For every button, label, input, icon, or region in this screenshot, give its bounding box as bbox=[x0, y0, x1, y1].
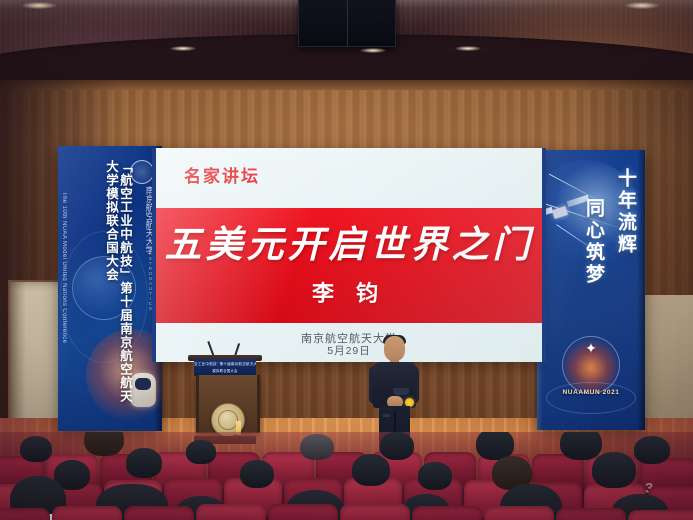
audience-head bbox=[300, 434, 334, 460]
podium-banner-line-2: 模拟联合国大会 bbox=[212, 368, 237, 373]
audience-head bbox=[240, 460, 274, 488]
seat[interactable] bbox=[628, 510, 693, 520]
podium-body bbox=[196, 375, 260, 433]
seat[interactable] bbox=[412, 506, 482, 520]
banner-left: 「航空工业中航技」第十届南京航空航天大学模拟联合国大会 南京航空航天大学 NAN… bbox=[58, 146, 162, 431]
auditorium-scene: 「航空工业中航技」第十届南京航空航天大学模拟联合国大会 南京航空航天大学 NAN… bbox=[0, 0, 693, 520]
ceiling bbox=[0, 0, 693, 86]
podium: "航空工业中航技" 第十届南京航空航天大学 模拟联合国大会 bbox=[192, 355, 258, 440]
banner-edge-shadow bbox=[637, 150, 645, 430]
banner-right-calligraphy-2: 同心筑梦 bbox=[584, 198, 603, 303]
audience-head bbox=[84, 432, 124, 456]
speaker-pocket bbox=[383, 414, 390, 417]
audience-head bbox=[380, 432, 414, 460]
ceiling-projector-unit bbox=[298, 0, 396, 47]
banner-right: 十年流辉 同心筑梦 ✦ NUAAMUN 2021 bbox=[537, 150, 645, 430]
downlight bbox=[625, 2, 659, 9]
seat[interactable] bbox=[52, 506, 122, 520]
astronaut-graphic bbox=[130, 373, 156, 407]
speaker-collar bbox=[393, 388, 409, 395]
nuaamun-logo-ring bbox=[546, 382, 636, 414]
seat[interactable] bbox=[268, 504, 338, 520]
downlight bbox=[170, 46, 196, 51]
audience-head bbox=[20, 436, 52, 462]
university-emblem-icon bbox=[130, 160, 154, 184]
seat[interactable] bbox=[196, 504, 266, 520]
airplane-star-icon: ✦ bbox=[585, 341, 597, 355]
downlight bbox=[455, 46, 481, 51]
seat[interactable] bbox=[484, 506, 554, 520]
seat[interactable] bbox=[0, 508, 50, 520]
banner-right-calligraphy-1: 十年流辉 bbox=[616, 168, 635, 303]
door-shadow bbox=[10, 282, 26, 440]
downlight bbox=[360, 48, 386, 53]
seat[interactable] bbox=[556, 508, 626, 520]
audience-area: 3 bbox=[0, 432, 693, 520]
audience-head bbox=[592, 452, 636, 488]
seat[interactable] bbox=[124, 506, 194, 520]
banner-left-english: The 10th NUAA Model United Nations Confe… bbox=[61, 192, 67, 343]
audience-head bbox=[126, 448, 162, 478]
screen-glare bbox=[156, 148, 542, 362]
audience-head bbox=[186, 440, 216, 464]
podium-banner-line-1: "航空工业中航技" 第十届南京航空航天大学 bbox=[194, 362, 256, 367]
audience-head bbox=[560, 432, 602, 460]
audience-head bbox=[418, 462, 452, 490]
audience-head bbox=[352, 454, 390, 486]
podium-banner: "航空工业中航技" 第十届南京航空航天大学 模拟联合国大会 bbox=[194, 359, 256, 376]
downlight bbox=[22, 2, 56, 9]
banner-left-headline: 「航空工业中航技」第十届南京航空航天大学模拟联合国大会 bbox=[104, 160, 132, 415]
screen-frame-right bbox=[542, 148, 546, 362]
seat[interactable] bbox=[340, 504, 410, 520]
projection-screen: 名家讲坛 五美元开启世界之门 李 钧 南京航空航天大学 5月29日 bbox=[156, 148, 542, 362]
audience-head bbox=[634, 436, 670, 464]
